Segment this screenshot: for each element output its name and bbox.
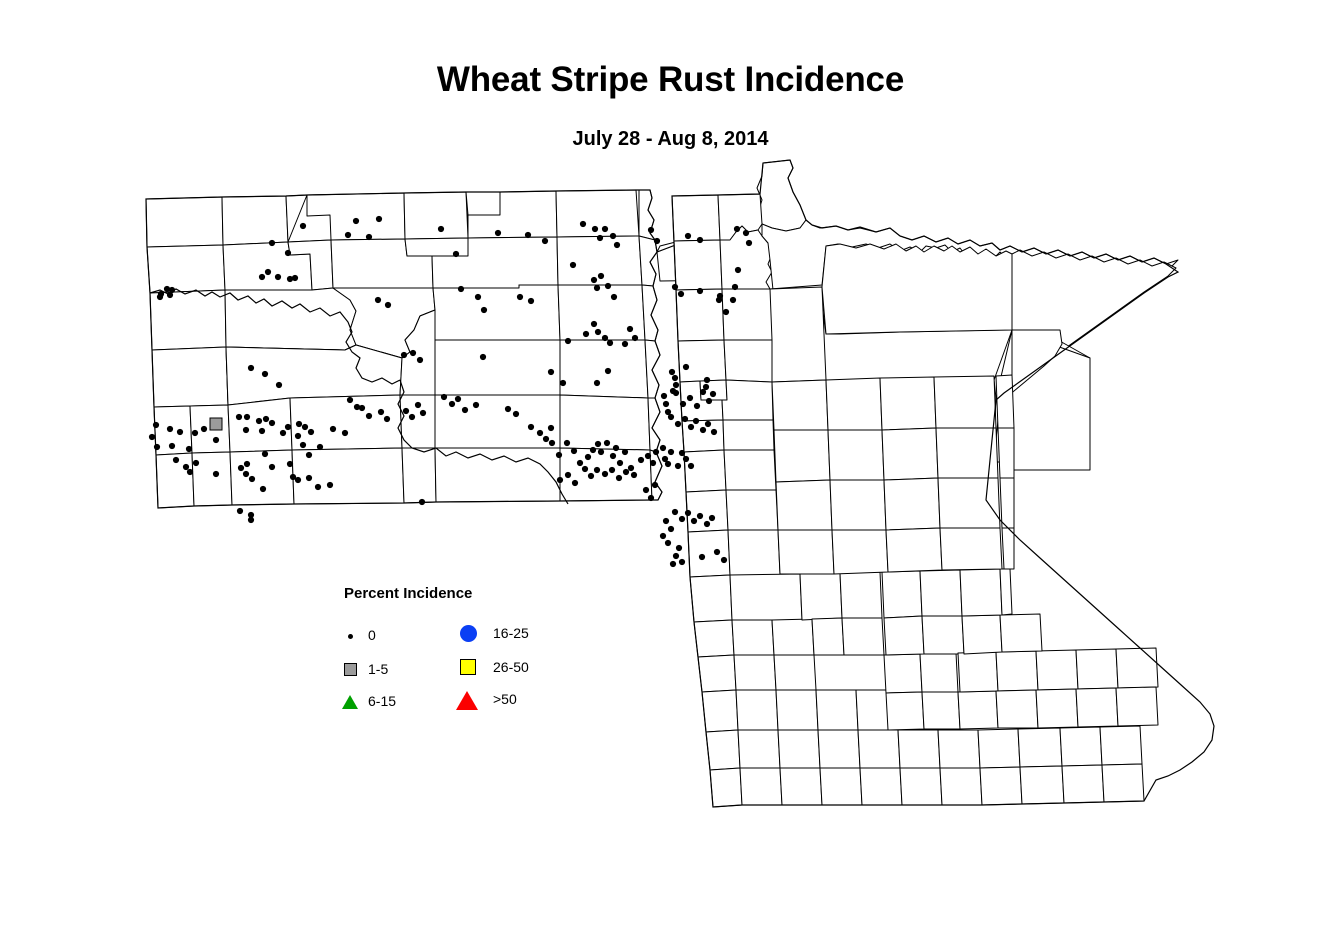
data-point-zero [591, 321, 597, 327]
data-point-zero [353, 218, 359, 224]
data-point-zero [710, 391, 716, 397]
county [770, 287, 826, 382]
data-point-zero [688, 424, 694, 430]
data-point-zero [475, 294, 481, 300]
map-page: Wheat Stripe Rust Incidence July 28 - Au… [0, 0, 1341, 926]
county [830, 480, 886, 530]
data-point-zero [415, 402, 421, 408]
data-point-zero [691, 518, 697, 524]
data-point-zero [505, 406, 511, 412]
data-point-zero [345, 232, 351, 238]
data-point-zero [590, 447, 596, 453]
data-point-zero [595, 329, 601, 335]
data-point-zero [366, 413, 372, 419]
county [938, 730, 980, 768]
data-point-zero [419, 499, 425, 505]
data-point-zero [528, 424, 534, 430]
county [1062, 765, 1104, 803]
county [826, 378, 882, 430]
data-point-zero [571, 448, 577, 454]
county [722, 289, 772, 340]
data-point-zero [177, 429, 183, 435]
data-point-zero [704, 377, 710, 383]
data-point-zero [716, 297, 722, 303]
data-point-zero [192, 430, 198, 436]
data-point-zero [453, 251, 459, 257]
data-point-zero [420, 410, 426, 416]
legend-label: 6-15 [368, 693, 396, 709]
data-point-zero [557, 477, 563, 483]
data-point-zero [660, 445, 666, 451]
data-point-zero [265, 269, 271, 275]
county [146, 197, 223, 247]
county [228, 398, 292, 452]
data-point-zero [673, 390, 679, 396]
data-point-zero [631, 472, 637, 478]
county [938, 478, 1000, 528]
county-lake-of-the-woods-angle [757, 160, 806, 231]
data-point-zero [693, 418, 699, 424]
data-point-zero [403, 408, 409, 414]
data-point-zero [243, 471, 249, 477]
county [776, 690, 818, 730]
data-point-zero [721, 557, 727, 563]
data-point-zero [709, 515, 715, 521]
data-point-zero [513, 411, 519, 417]
data-point-zero [565, 472, 571, 478]
county [706, 730, 740, 770]
data-point-zero [592, 226, 598, 232]
county [778, 730, 820, 768]
yellow-square-icon [458, 657, 480, 679]
county [940, 768, 982, 805]
county [702, 690, 738, 732]
county [820, 768, 862, 805]
county [884, 478, 940, 530]
county [732, 620, 774, 655]
county [1020, 766, 1064, 804]
county [774, 655, 816, 690]
data-point-zero [556, 452, 562, 458]
data-point-zero [706, 398, 712, 404]
county [710, 768, 742, 807]
county [1000, 569, 1012, 615]
red-triangle-icon [456, 689, 478, 711]
data-point-zero [660, 533, 666, 539]
data-point-zero [187, 469, 193, 475]
data-point-zero [663, 518, 669, 524]
data-point-zero [607, 340, 613, 346]
data-point-zero [276, 382, 282, 388]
county [772, 380, 828, 430]
data-point-zero [697, 513, 703, 519]
data-point-zero [700, 389, 706, 395]
county [726, 490, 778, 530]
data-point-zero [665, 540, 671, 546]
data-point-zero [617, 460, 623, 466]
data-point-zero [602, 471, 608, 477]
data-point-zero [262, 451, 268, 457]
county [960, 569, 1002, 616]
county [722, 380, 773, 420]
data-point-zero [330, 426, 336, 432]
data-point-zero [481, 307, 487, 313]
data-point-zero [549, 440, 555, 446]
data-point-zero [455, 396, 461, 402]
county [818, 730, 860, 768]
county [886, 528, 942, 572]
county [560, 340, 648, 398]
county [958, 652, 998, 692]
data-point-zero [378, 409, 384, 415]
data-point-zero [237, 508, 243, 514]
data-point-zero [668, 414, 674, 420]
data-point-zero [458, 286, 464, 292]
legend-label: 1-5 [368, 661, 388, 677]
data-point-zero [622, 449, 628, 455]
county [922, 692, 960, 729]
data-point-zero [169, 443, 175, 449]
county [898, 730, 940, 768]
data-point-zero [565, 338, 571, 344]
county [882, 571, 922, 618]
county [978, 729, 1020, 768]
map-container [0, 0, 1341, 926]
county [1102, 764, 1144, 802]
legend-label: 26-50 [493, 659, 529, 675]
county [842, 618, 884, 655]
data-point-zero [732, 284, 738, 290]
county [934, 376, 996, 428]
county [724, 450, 776, 490]
county [1116, 648, 1158, 688]
data-point-zero [699, 554, 705, 560]
data-point-zero [650, 460, 656, 466]
data-point-zero [668, 449, 674, 455]
legend-label: 16-25 [493, 625, 529, 641]
data-point-zero [735, 267, 741, 273]
green-triangle-icon [340, 691, 362, 713]
county [402, 448, 436, 503]
county [1060, 727, 1102, 766]
county [860, 768, 902, 805]
data-point-zero [256, 418, 262, 424]
county [996, 690, 1038, 728]
county [828, 430, 884, 480]
data-point-zero [376, 216, 382, 222]
data-point-zero [661, 393, 667, 399]
data-point-zero [679, 450, 685, 456]
data-point-zero [598, 273, 604, 279]
data-point-zero [285, 250, 291, 256]
county [694, 620, 734, 657]
county [723, 420, 774, 450]
county [230, 450, 294, 505]
data-point-zero [685, 510, 691, 516]
data-point-zero [269, 464, 275, 470]
county [780, 768, 822, 805]
data-point-zero [327, 482, 333, 488]
data-point-zero [598, 449, 604, 455]
data-point-zero [495, 230, 501, 236]
data-point-zero [375, 297, 381, 303]
county [884, 654, 922, 693]
data-point-zero [675, 463, 681, 469]
data-point-zero [605, 283, 611, 289]
data-point-zero [711, 429, 717, 435]
data-point-zero [560, 380, 566, 386]
county [192, 452, 232, 506]
county [958, 691, 998, 729]
data-point-zero [705, 421, 711, 427]
data-point-zero [663, 401, 669, 407]
data-point-zero [670, 561, 676, 567]
data-point-zero [285, 424, 291, 430]
data-point-zero [597, 235, 603, 241]
data-point-zero [249, 476, 255, 482]
county [728, 530, 780, 575]
data-point-zero [542, 238, 548, 244]
data-point-zero [653, 449, 659, 455]
data-point-zero [306, 452, 312, 458]
data-point-zero [342, 430, 348, 436]
county [684, 450, 726, 492]
data-point-zero [243, 427, 249, 433]
county [682, 420, 724, 452]
data-point-zero [153, 422, 159, 428]
gray-square-icon [340, 659, 362, 681]
data-point-zero [296, 421, 302, 427]
data-point-zero [668, 526, 674, 532]
legend-label: >50 [493, 691, 517, 707]
data-point-zero [193, 460, 199, 466]
data-point-zero [687, 395, 693, 401]
data-point-zero [315, 484, 321, 490]
data-point-zero [588, 473, 594, 479]
data-point-zero [679, 516, 685, 522]
data-point-zero [186, 446, 192, 452]
data-point-zero [622, 341, 628, 347]
data-point-zero [627, 326, 633, 332]
data-point-zero [669, 369, 675, 375]
data-point-zero [259, 428, 265, 434]
county [740, 768, 782, 805]
data-point-zero [714, 549, 720, 555]
data-point-zero [638, 457, 644, 463]
data-point-zero [262, 371, 268, 377]
map-legend: Percent Incidence 0 1-5 6-15 16-25 26-50… [338, 585, 568, 710]
data-point-zero [302, 424, 308, 430]
county [558, 285, 645, 340]
data-point-zero [610, 453, 616, 459]
data-point-zero [730, 297, 736, 303]
data-point-zero [480, 354, 486, 360]
data-point-zero [623, 469, 629, 475]
data-point-zero [259, 274, 265, 280]
data-point-zero [537, 430, 543, 436]
data-point-zero [673, 553, 679, 559]
data-point-zero [611, 294, 617, 300]
county [1000, 614, 1042, 652]
data-point-zero [441, 394, 447, 400]
data-point-zero [582, 466, 588, 472]
data-point-zero [347, 397, 353, 403]
data-point-zero [704, 521, 710, 527]
county [980, 767, 1022, 805]
data-point-zero [366, 234, 372, 240]
data-point-zero [244, 414, 250, 420]
data-point-zero [543, 436, 549, 442]
county [736, 690, 778, 730]
data-point-zero [263, 416, 269, 422]
data-point-zero [591, 277, 597, 283]
county [690, 575, 732, 622]
data-point-zero [317, 444, 323, 450]
data-point-zero [300, 223, 306, 229]
data-point-zero [157, 294, 163, 300]
data-point-zero [594, 380, 600, 386]
county [404, 192, 468, 239]
data-point-zero [269, 420, 275, 426]
data-point-zero [410, 350, 416, 356]
data-point-zero [614, 242, 620, 248]
county [920, 653, 958, 692]
data-point-zero [462, 407, 468, 413]
county [688, 530, 730, 577]
data-point-zero [678, 291, 684, 297]
data-point-zero [213, 437, 219, 443]
county [996, 375, 1014, 428]
data-point-zero [473, 402, 479, 408]
data-point-zero [583, 331, 589, 337]
data-point-zero [213, 471, 219, 477]
county [724, 340, 772, 382]
data-point-zero [643, 487, 649, 493]
data-point-zero [648, 227, 654, 233]
county [800, 573, 842, 620]
county [858, 730, 900, 768]
data-point-zero [676, 545, 682, 551]
county [1076, 688, 1118, 727]
county [1076, 649, 1118, 689]
county [832, 530, 888, 574]
county [672, 195, 720, 241]
county [676, 289, 724, 341]
data-point-zero [605, 368, 611, 374]
county [816, 690, 858, 730]
county [698, 655, 736, 692]
data-point-zero [173, 457, 179, 463]
county [998, 428, 1014, 478]
data-point-zero [665, 461, 671, 467]
data-point-zero [260, 486, 266, 492]
county [730, 574, 802, 620]
data-point-zero [528, 298, 534, 304]
county [466, 192, 500, 215]
data-point-zero [610, 233, 616, 239]
data-point-zero [682, 416, 688, 422]
data-point-zero [628, 465, 634, 471]
county [650, 450, 662, 500]
data-point-zero [577, 460, 583, 466]
county [1002, 528, 1014, 569]
data-point-zero [680, 401, 686, 407]
data-point-1-5 [210, 418, 222, 430]
county [433, 285, 560, 340]
data-point-zero [292, 275, 298, 281]
county [772, 619, 814, 655]
data-point-zero [183, 464, 189, 470]
county [147, 245, 225, 293]
data-point-zero [438, 226, 444, 232]
county [435, 340, 560, 395]
data-point-zero [679, 559, 685, 565]
county [1000, 478, 1014, 528]
data-point-zero [572, 480, 578, 486]
data-point-zero [517, 294, 523, 300]
data-point-zero [616, 475, 622, 481]
data-point-zero [300, 442, 306, 448]
data-point-zero [652, 482, 658, 488]
data-point-zero [236, 414, 242, 420]
data-point-zero [645, 453, 651, 459]
data-point-zero [683, 456, 689, 462]
data-point-zero [723, 309, 729, 315]
data-point-zero [743, 230, 749, 236]
data-point-zero [604, 440, 610, 446]
county [290, 395, 402, 450]
data-point-zero [694, 403, 700, 409]
states-counties-map [0, 0, 1341, 926]
county [734, 655, 776, 690]
data-point-zero [525, 232, 531, 238]
data-point-zero [734, 226, 740, 232]
data-point-zero [548, 425, 554, 431]
county [940, 528, 1002, 570]
data-point-zero [201, 426, 207, 432]
blue-circle-icon [458, 623, 480, 645]
data-point-zero [672, 284, 678, 290]
data-point-zero [154, 444, 160, 450]
data-point-zero [746, 240, 752, 246]
county [776, 480, 832, 530]
data-point-zero [580, 221, 586, 227]
data-point-zero [244, 461, 250, 467]
data-point-zero [275, 274, 281, 280]
data-point-zero [672, 375, 678, 381]
data-point-zero [295, 433, 301, 439]
data-point-zero [609, 467, 615, 473]
data-point-zero [449, 401, 455, 407]
legend-label: 0 [368, 627, 376, 643]
data-point-zero [570, 262, 576, 268]
county [922, 616, 964, 654]
data-point-zero [683, 364, 689, 370]
data-point-zero [269, 240, 275, 246]
data-point-zero [585, 454, 591, 460]
county [880, 377, 936, 430]
data-point-zero [700, 427, 706, 433]
county [882, 428, 938, 480]
county [674, 240, 722, 290]
county [900, 768, 942, 805]
data-point-zero [673, 382, 679, 388]
data-point-zero [295, 477, 301, 483]
data-point-zero [409, 414, 415, 420]
data-point-zero [688, 463, 694, 469]
data-point-zero [548, 369, 554, 375]
data-point-zero [602, 226, 608, 232]
